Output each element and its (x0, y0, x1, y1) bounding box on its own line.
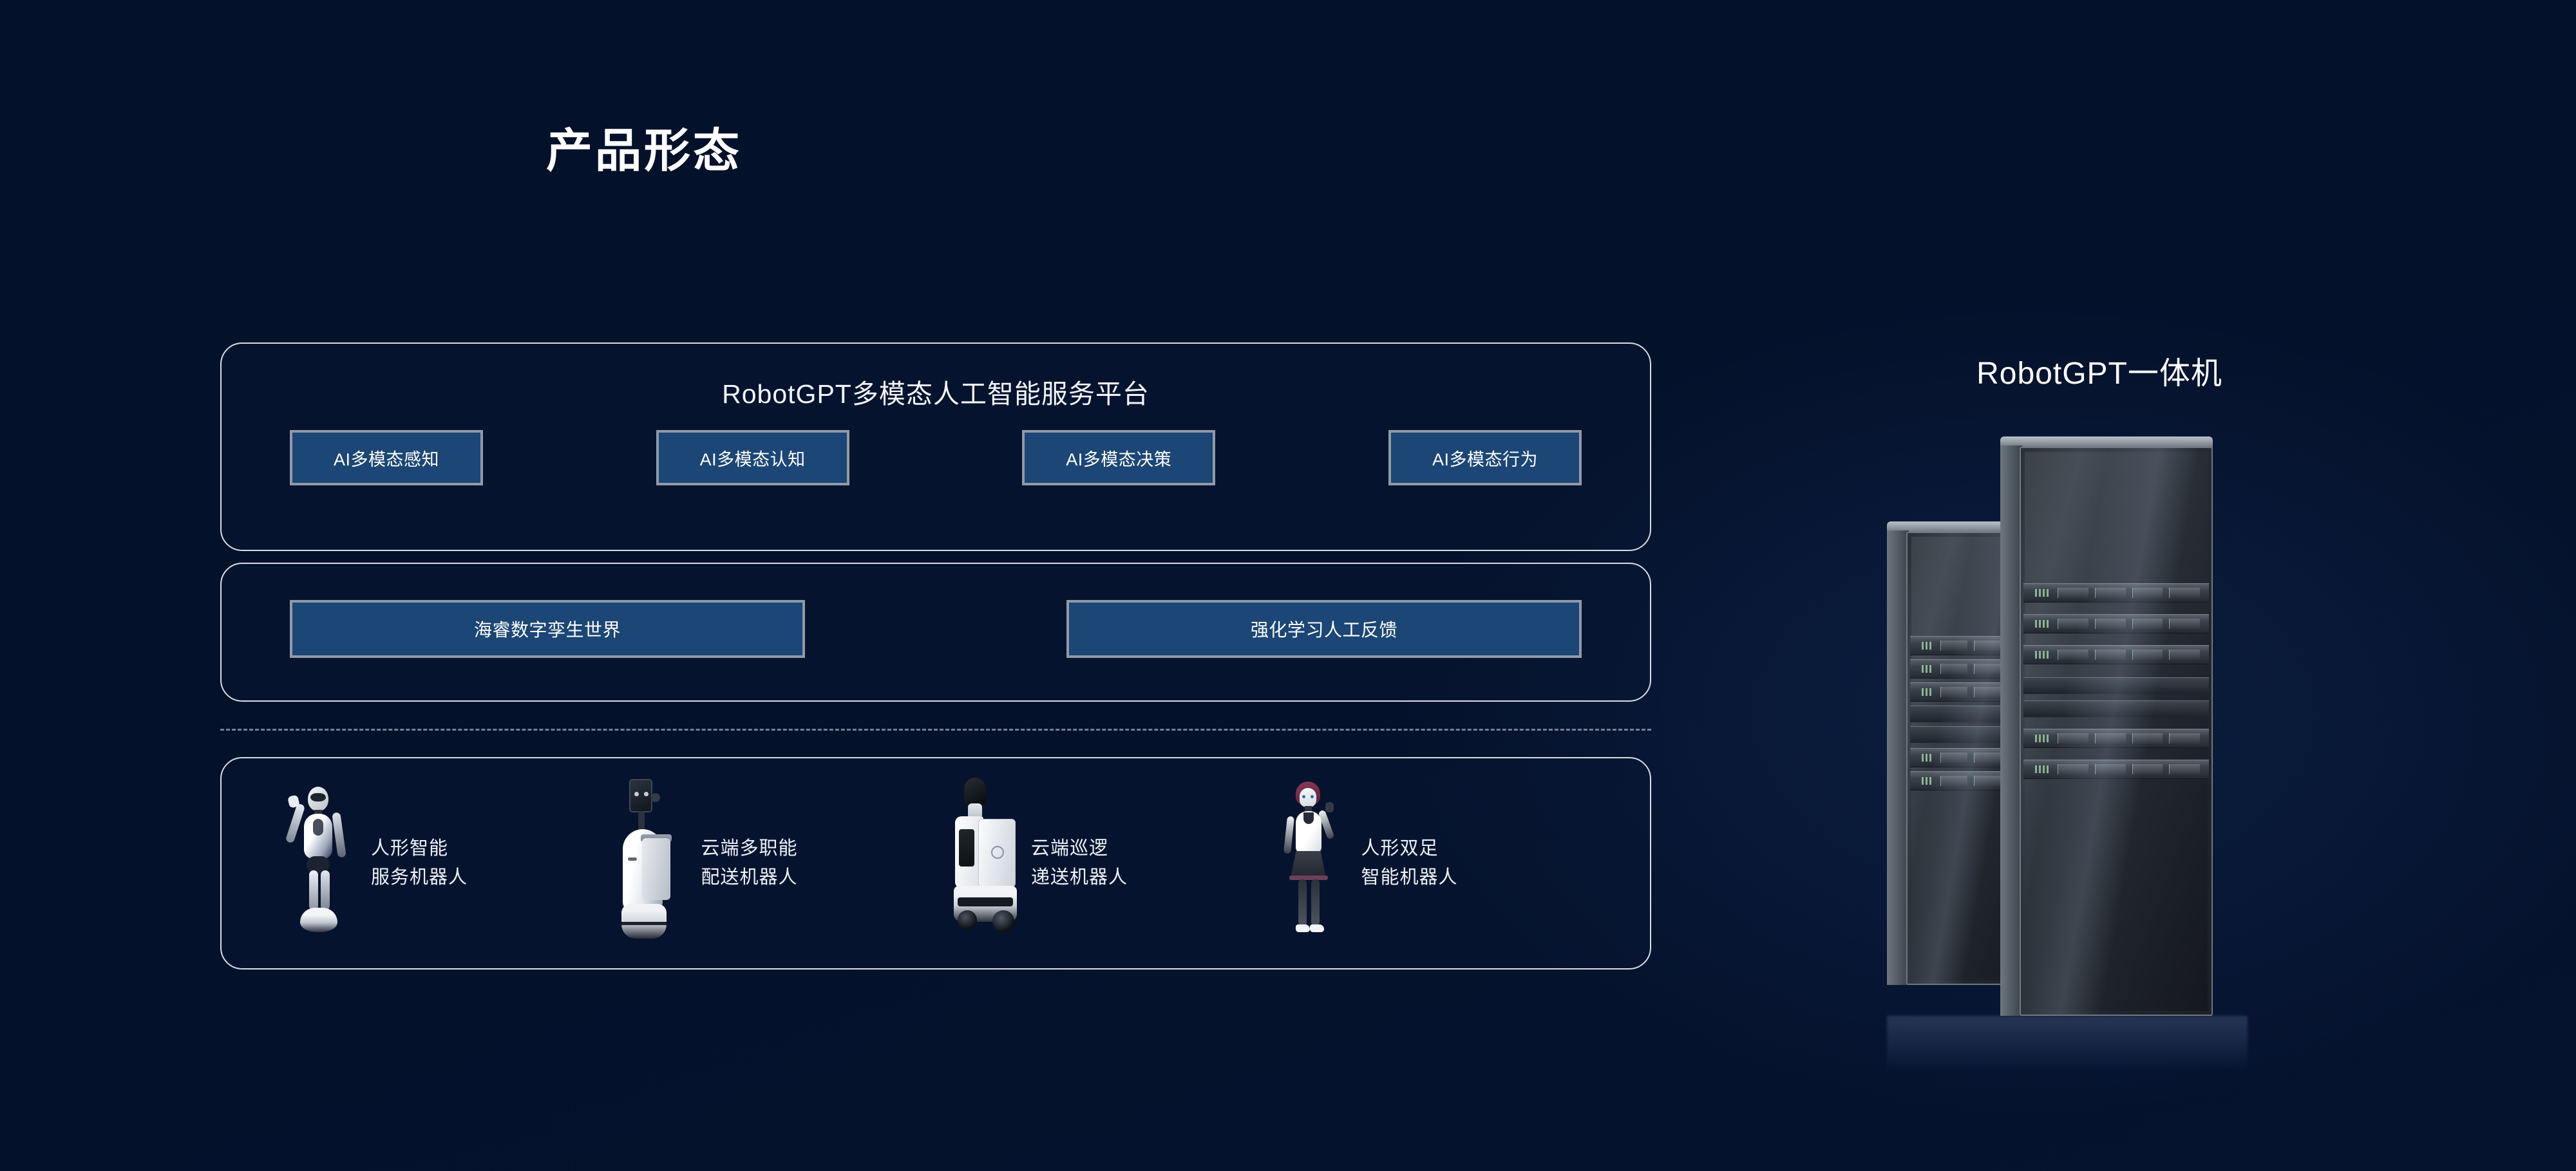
robot-item-patrol-delivery[interactable]: 云端巡逻 递送机器人 (936, 776, 1266, 950)
bipedal-humanoid-robot-icon (1266, 776, 1350, 950)
slide-canvas: 产品形态 RobotGPT多模态人工智能服务平台 AI多模态感知 AI多模态认知… (0, 0, 2576, 1171)
page-title-text: 产品形态 (546, 113, 742, 180)
appliance-title: RobotGPT一体机 (1835, 348, 2363, 393)
humanoid-service-robot-icon (276, 776, 359, 950)
capability-chip-cognition[interactable]: AI多模态认知 (656, 430, 849, 485)
engine-chip-digital-twin[interactable]: 海睿数字孪生世界 (290, 600, 805, 658)
server-rack-primary (2000, 436, 2213, 1016)
robot-label: 云端巡逻 递送机器人 (1031, 834, 1128, 892)
robot-label-line1: 人形智能 (371, 834, 468, 863)
section-divider (220, 729, 1651, 731)
robot-row: 人形智能 服务机器人 云端多职能 配送机器人 (220, 757, 1651, 970)
robot-label: 云端多职能 配送机器人 (701, 834, 798, 892)
robot-label-line1: 云端多职能 (701, 834, 798, 863)
robot-label-line1: 人形双足 (1361, 834, 1458, 863)
platform-panel-title: RobotGPT多模态人工智能服务平台 (222, 372, 1650, 411)
page-title: 产品形态 (0, 113, 2576, 180)
capability-chip-decision[interactable]: AI多模态决策 (1022, 430, 1215, 485)
patrol-delivery-robot-icon (936, 776, 1019, 950)
capability-chip-row: AI多模态感知 AI多模态认知 AI多模态决策 AI多模态行为 (220, 430, 1651, 485)
robot-label-line2: 配送机器人 (701, 863, 798, 892)
rack-reflection (1887, 1016, 2248, 1074)
capability-chip-perception[interactable]: AI多模态感知 (290, 430, 483, 485)
robot-label-line2: 服务机器人 (371, 863, 468, 892)
robot-label-line2: 递送机器人 (1031, 863, 1128, 892)
robot-label: 人形双足 智能机器人 (1361, 834, 1458, 892)
capability-chip-behavior[interactable]: AI多模态行为 (1388, 430, 1582, 485)
cloud-delivery-robot-icon (606, 776, 690, 950)
robot-item-humanoid-service[interactable]: 人形智能 服务机器人 (276, 776, 606, 950)
robot-label-line2: 智能机器人 (1361, 863, 1458, 892)
robot-label-line1: 云端巡逻 (1031, 834, 1128, 863)
robot-label: 人形智能 服务机器人 (371, 834, 468, 892)
engine-chip-rlhf[interactable]: 强化学习人工反馈 (1066, 600, 1582, 658)
robot-item-bipedal-humanoid[interactable]: 人形双足 智能机器人 (1266, 776, 1596, 950)
engine-chip-row: 海睿数字孪生世界 强化学习人工反馈 (220, 600, 1651, 658)
server-rack-icon (1887, 406, 2248, 1036)
robot-item-cloud-delivery[interactable]: 云端多职能 配送机器人 (606, 776, 936, 950)
